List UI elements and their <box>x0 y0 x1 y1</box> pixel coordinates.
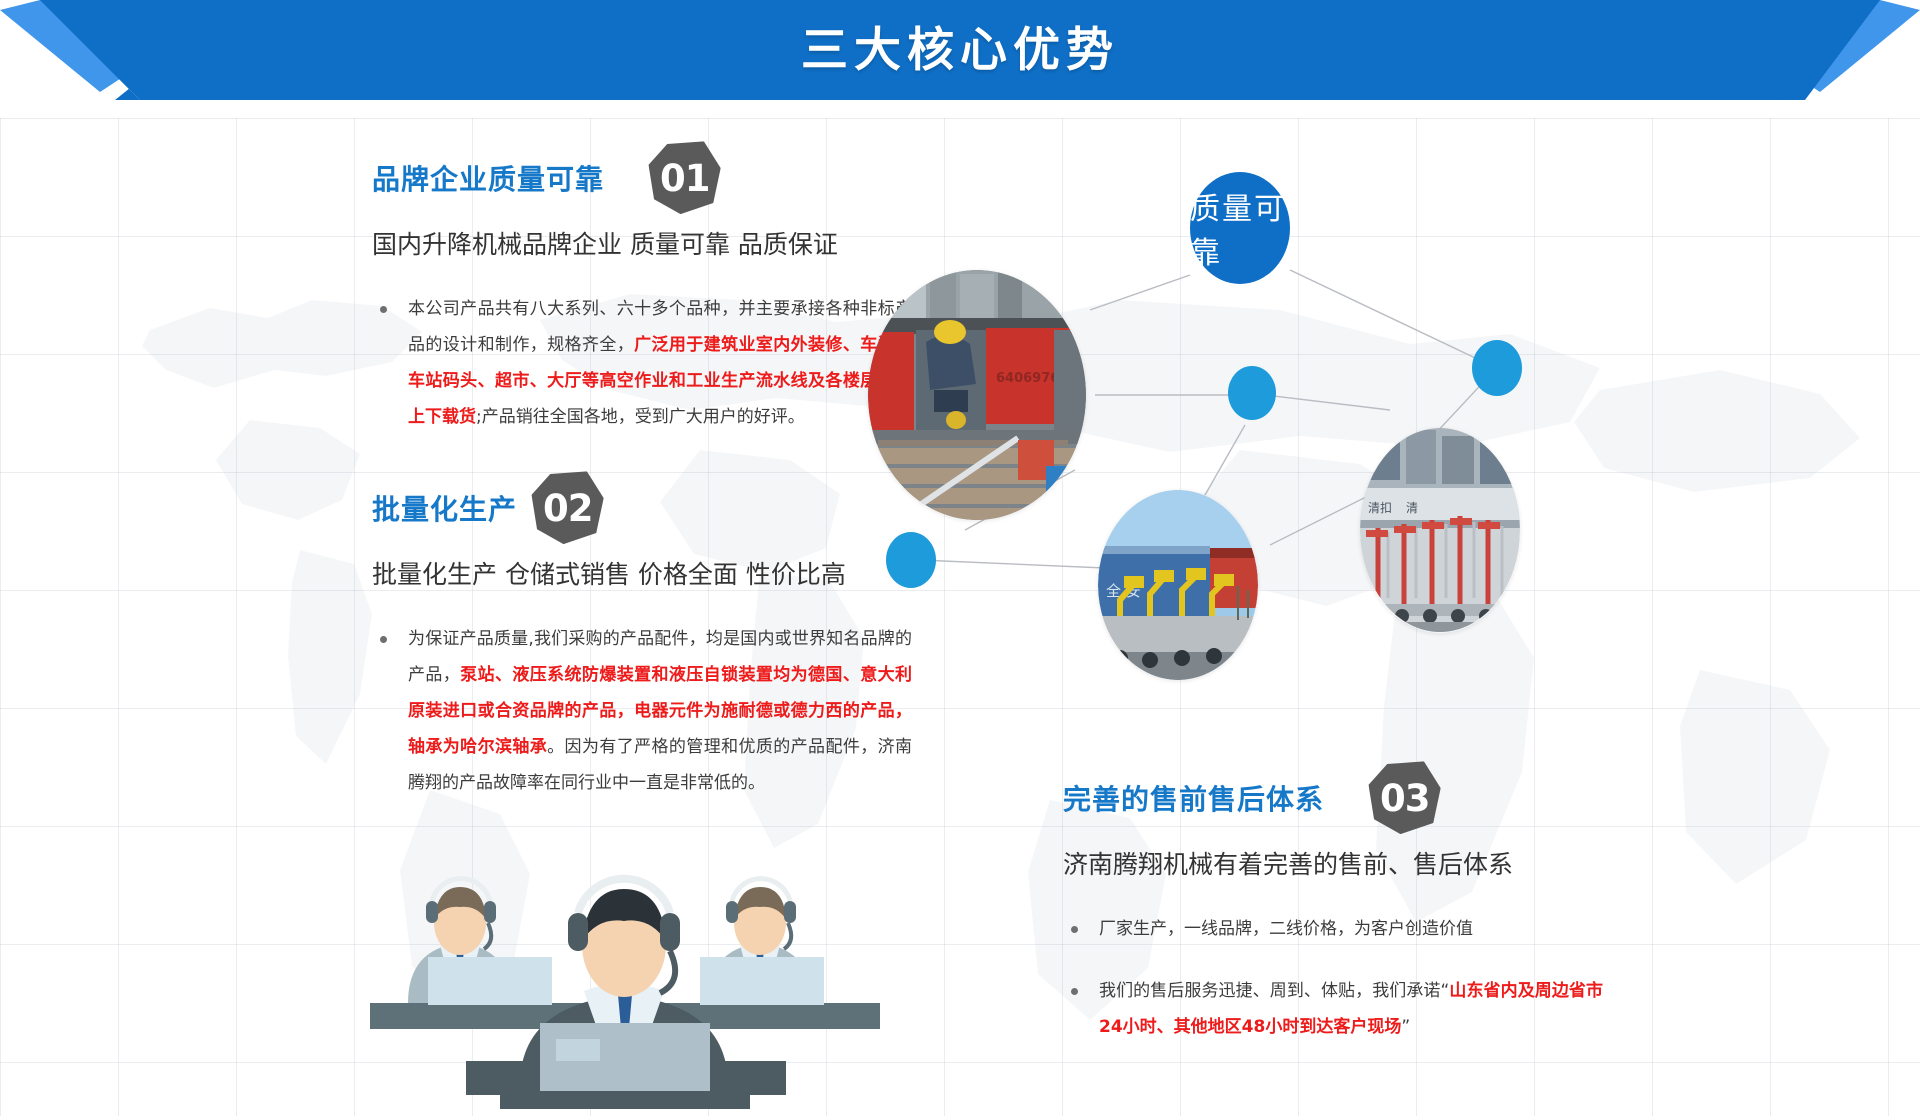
section-02-heading: 批量化生产 <box>372 490 517 530</box>
body-text: 我们的售后服务迅捷、周到、体贴，我们承诺“ <box>1099 981 1449 1001</box>
section-03-head: 完善的售前售后体系 03 <box>1063 780 1603 842</box>
section-01-number-badge: 01 <box>648 141 722 215</box>
body-text: ;产品销往全国各地，受到广大用户的好评。 <box>476 407 805 427</box>
photo-lift-products-yard: 清扣 清 <box>1360 428 1520 633</box>
hub-node: 质量可靠 <box>1190 172 1290 284</box>
section-02-number-badge: 02 <box>531 471 605 545</box>
section-03-number: 03 <box>1380 777 1430 820</box>
body-text: ” <box>1401 1017 1410 1037</box>
section-02-bullets: 为保证产品质量,我们采购的产品配件，均是国内或世界知名品牌的产品，泵站、液压系统… <box>372 621 912 801</box>
svg-text:清扣: 清扣 <box>1368 501 1392 515</box>
section-03-number-badge: 03 <box>1368 761 1442 835</box>
advantage-section-02: 批量化生产 02 批量化生产 仓储式销售 价格全面 性价比高 为保证产品质量,我… <box>372 490 912 827</box>
hub-label: 质量可靠 <box>1190 184 1290 272</box>
advantage-section-01: 品牌企业质量可靠 01 国内升降机械品牌企业 质量可靠 品质保证 本公司产品共有… <box>372 160 912 461</box>
network-node-right <box>1472 340 1522 396</box>
body-text: 厂家生产，一线品牌，二线价格，为客户创造价值 <box>1099 919 1473 939</box>
list-item: 厂家生产，一线品牌，二线价格，为客户创造价值 <box>1063 911 1603 947</box>
photo-factory-cutting-machine: 6406976 <box>868 270 1086 520</box>
page-title: 三大核心优势 <box>0 13 1920 89</box>
advantage-section-03: 完善的售前售后体系 03 济南腾翔机械有着完善的售前、售后体系 厂家生产，一线品… <box>1063 780 1603 1071</box>
section-03-heading: 完善的售前售后体系 <box>1063 780 1324 820</box>
section-01-subheading: 国内升降机械品牌企业 质量可靠 品质保证 <box>372 225 912 265</box>
section-03-subheading: 济南腾翔机械有着完善的售前、售后体系 <box>1063 845 1603 885</box>
section-01-bullets: 本公司产品共有八大系列、六十多个品种，并主要承接各种非标产品的设计和制作，规格齐… <box>372 291 912 435</box>
svg-text:6406976: 6406976 <box>996 371 1059 386</box>
page-header: 三大核心优势 <box>0 0 1920 122</box>
call-center-illustration <box>370 795 880 1115</box>
svg-text:清: 清 <box>1406 501 1418 515</box>
section-03-bullets: 厂家生产，一线品牌，二线价格，为客户创造价值 我们的售后服务迅捷、周到、体贴，我… <box>1063 911 1603 1045</box>
section-01-number: 01 <box>660 157 710 200</box>
list-item: 我们的售后服务迅捷、周到、体贴，我们承诺“山东省内及周边省市24小时、其他地区4… <box>1063 973 1603 1045</box>
list-item: 为保证产品质量,我们采购的产品配件，均是国内或世界知名品牌的产品，泵站、液压系统… <box>372 621 912 801</box>
list-item: 本公司产品共有八大系列、六十多个品种，并主要承接各种非标产品的设计和制作，规格齐… <box>372 291 912 435</box>
network-node-center <box>1228 366 1276 420</box>
section-01-heading: 品牌企业质量可靠 <box>372 160 604 200</box>
photo-boom-lifts-outdoor: 全 安 <box>1098 490 1258 680</box>
section-02-number: 02 <box>543 487 593 530</box>
section-02-subheading: 批量化生产 仓储式销售 价格全面 性价比高 <box>372 555 912 595</box>
network-node-left <box>886 532 936 588</box>
section-02-head: 批量化生产 02 <box>372 490 912 552</box>
section-01-head: 品牌企业质量可靠 01 <box>372 160 912 222</box>
quality-network-diagram: 质量可靠 6406976 <box>860 160 1560 680</box>
